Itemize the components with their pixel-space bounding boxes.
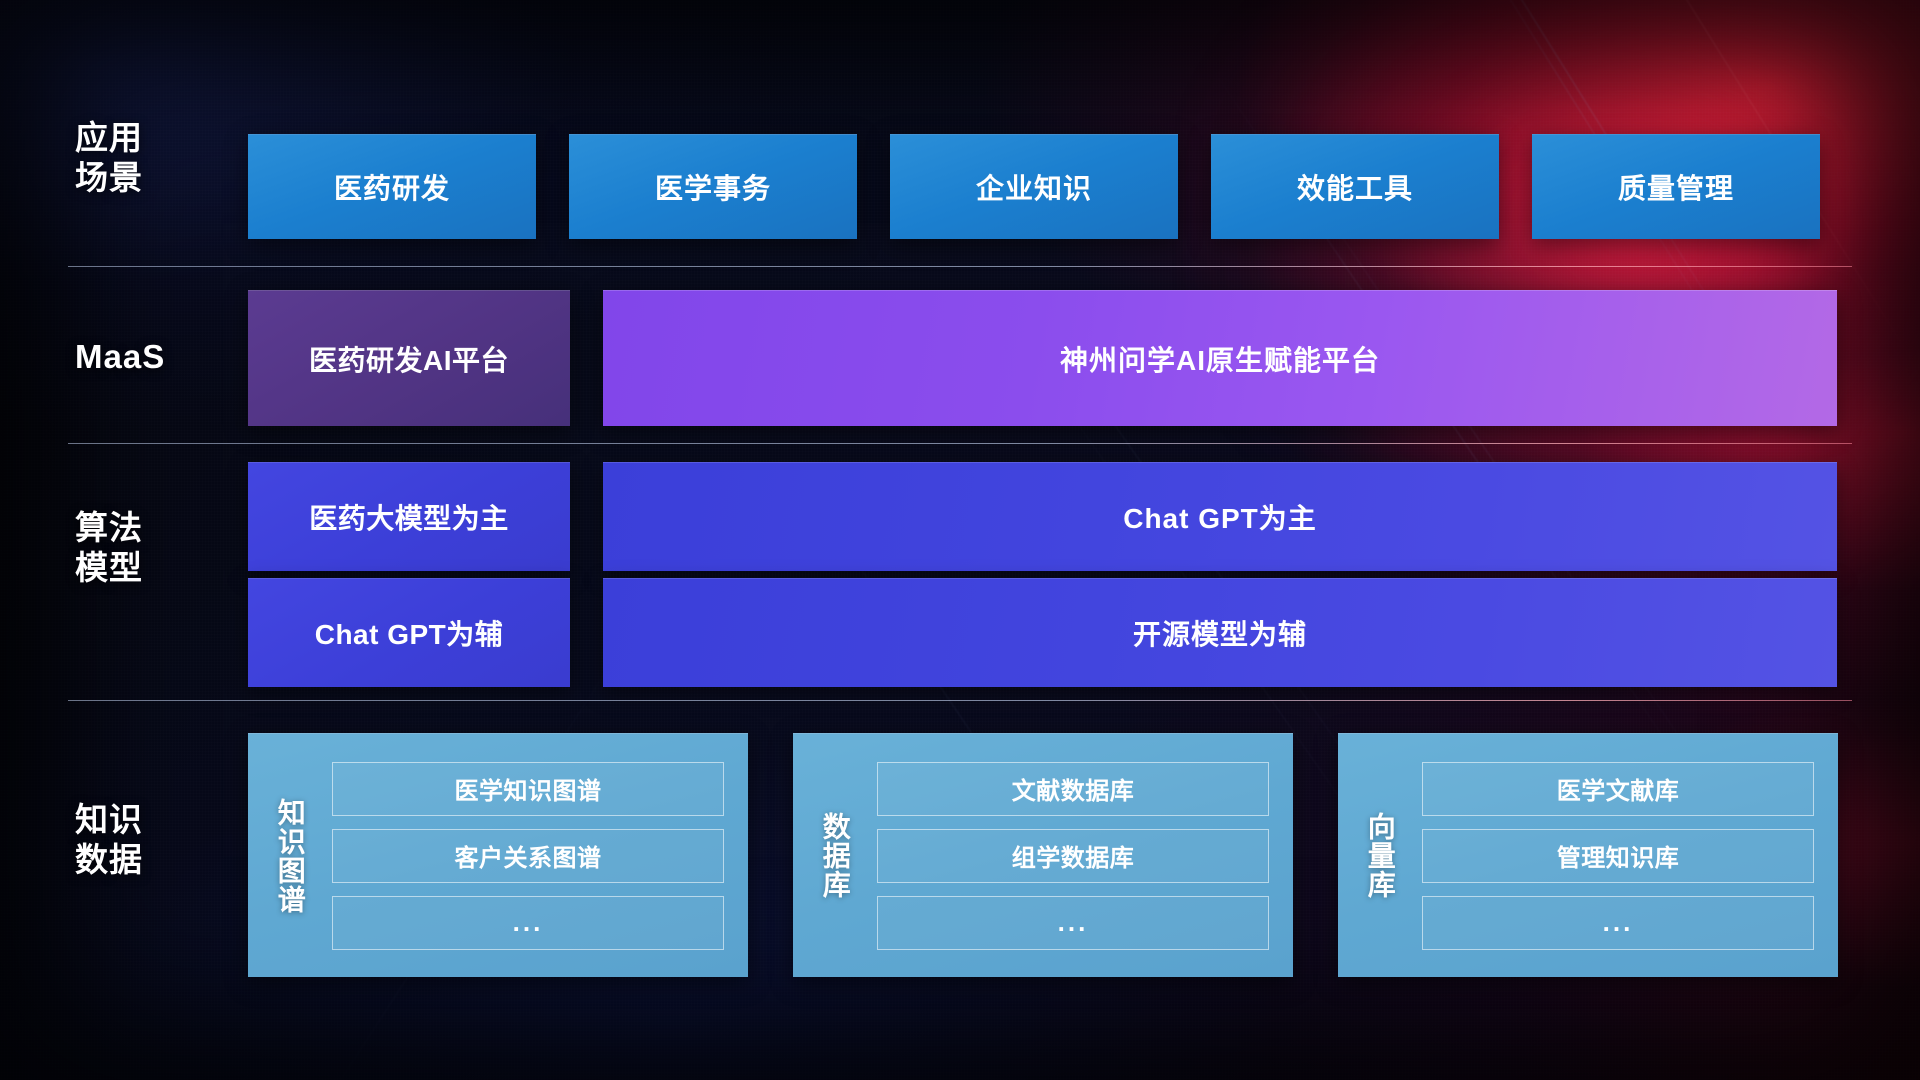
architecture-diagram: 应用 场景 医药研发 医学事务 企业知识 效能工具 质量管理 MaaS 医药研发… bbox=[0, 0, 1920, 1080]
knowledge-item[interactable]: 管理知识库 bbox=[1422, 829, 1814, 883]
knowledge-group-title: 知识图谱 bbox=[248, 798, 332, 914]
row-divider bbox=[68, 266, 1852, 267]
knowledge-group-title: 数据库 bbox=[793, 812, 877, 899]
knowledge-item[interactable]: 组学数据库 bbox=[877, 829, 1269, 883]
row-label-application-scenario: 应用 场景 bbox=[75, 118, 195, 199]
row-label-line2: 场景 bbox=[75, 158, 195, 198]
knowledge-item-more[interactable]: ... bbox=[332, 896, 724, 950]
knowledge-item-more[interactable]: ... bbox=[877, 896, 1269, 950]
knowledge-group-title: 向量库 bbox=[1338, 812, 1422, 899]
row-label-line1: MaaS bbox=[75, 337, 195, 377]
row-label-algorithm-model: 算法 模型 bbox=[75, 508, 195, 589]
application-scenario-cards: 医药研发 医学事务 企业知识 效能工具 质量管理 bbox=[248, 134, 1820, 239]
row-label-line1: 知识 bbox=[75, 800, 195, 840]
knowledge-item-more[interactable]: ... bbox=[1422, 896, 1814, 950]
row-divider bbox=[68, 443, 1852, 444]
row-label-line2: 模型 bbox=[75, 548, 195, 588]
maas-card-left[interactable]: 医药研发AI平台 bbox=[248, 290, 570, 426]
scenario-card[interactable]: 医药研发 bbox=[248, 134, 536, 239]
algorithm-card-right[interactable]: 开源模型为辅 bbox=[603, 578, 1837, 687]
knowledge-group-database: 数据库 文献数据库 组学数据库 ... bbox=[793, 733, 1293, 977]
algorithm-card-left[interactable]: 医药大模型为主 bbox=[248, 462, 570, 571]
knowledge-item[interactable]: 医学知识图谱 bbox=[332, 762, 724, 816]
row-label-knowledge-data: 知识 数据 bbox=[75, 800, 195, 881]
knowledge-group-items: 文献数据库 组学数据库 ... bbox=[877, 762, 1293, 950]
algorithm-card-right[interactable]: Chat GPT为主 bbox=[603, 462, 1837, 571]
scenario-card[interactable]: 效能工具 bbox=[1211, 134, 1499, 239]
knowledge-group-items: 医学文献库 管理知识库 ... bbox=[1422, 762, 1838, 950]
knowledge-group-items: 医学知识图谱 客户关系图谱 ... bbox=[332, 762, 748, 950]
knowledge-item[interactable]: 文献数据库 bbox=[877, 762, 1269, 816]
knowledge-group-knowledge-graph: 知识图谱 医学知识图谱 客户关系图谱 ... bbox=[248, 733, 748, 977]
row-label-line1: 应用 bbox=[75, 118, 195, 158]
scenario-card[interactable]: 医学事务 bbox=[569, 134, 857, 239]
algorithm-card-left[interactable]: Chat GPT为辅 bbox=[248, 578, 570, 687]
row-divider bbox=[68, 700, 1852, 701]
knowledge-item[interactable]: 客户关系图谱 bbox=[332, 829, 724, 883]
maas-card-right[interactable]: 神州问学AI原生赋能平台 bbox=[603, 290, 1837, 426]
scenario-card[interactable]: 企业知识 bbox=[890, 134, 1178, 239]
knowledge-item[interactable]: 医学文献库 bbox=[1422, 762, 1814, 816]
row-label-line1: 算法 bbox=[75, 508, 195, 548]
row-label-maas: MaaS bbox=[75, 337, 195, 377]
row-label-line2: 数据 bbox=[75, 840, 195, 880]
knowledge-group-vector-store: 向量库 医学文献库 管理知识库 ... bbox=[1338, 733, 1838, 977]
scenario-card[interactable]: 质量管理 bbox=[1532, 134, 1820, 239]
